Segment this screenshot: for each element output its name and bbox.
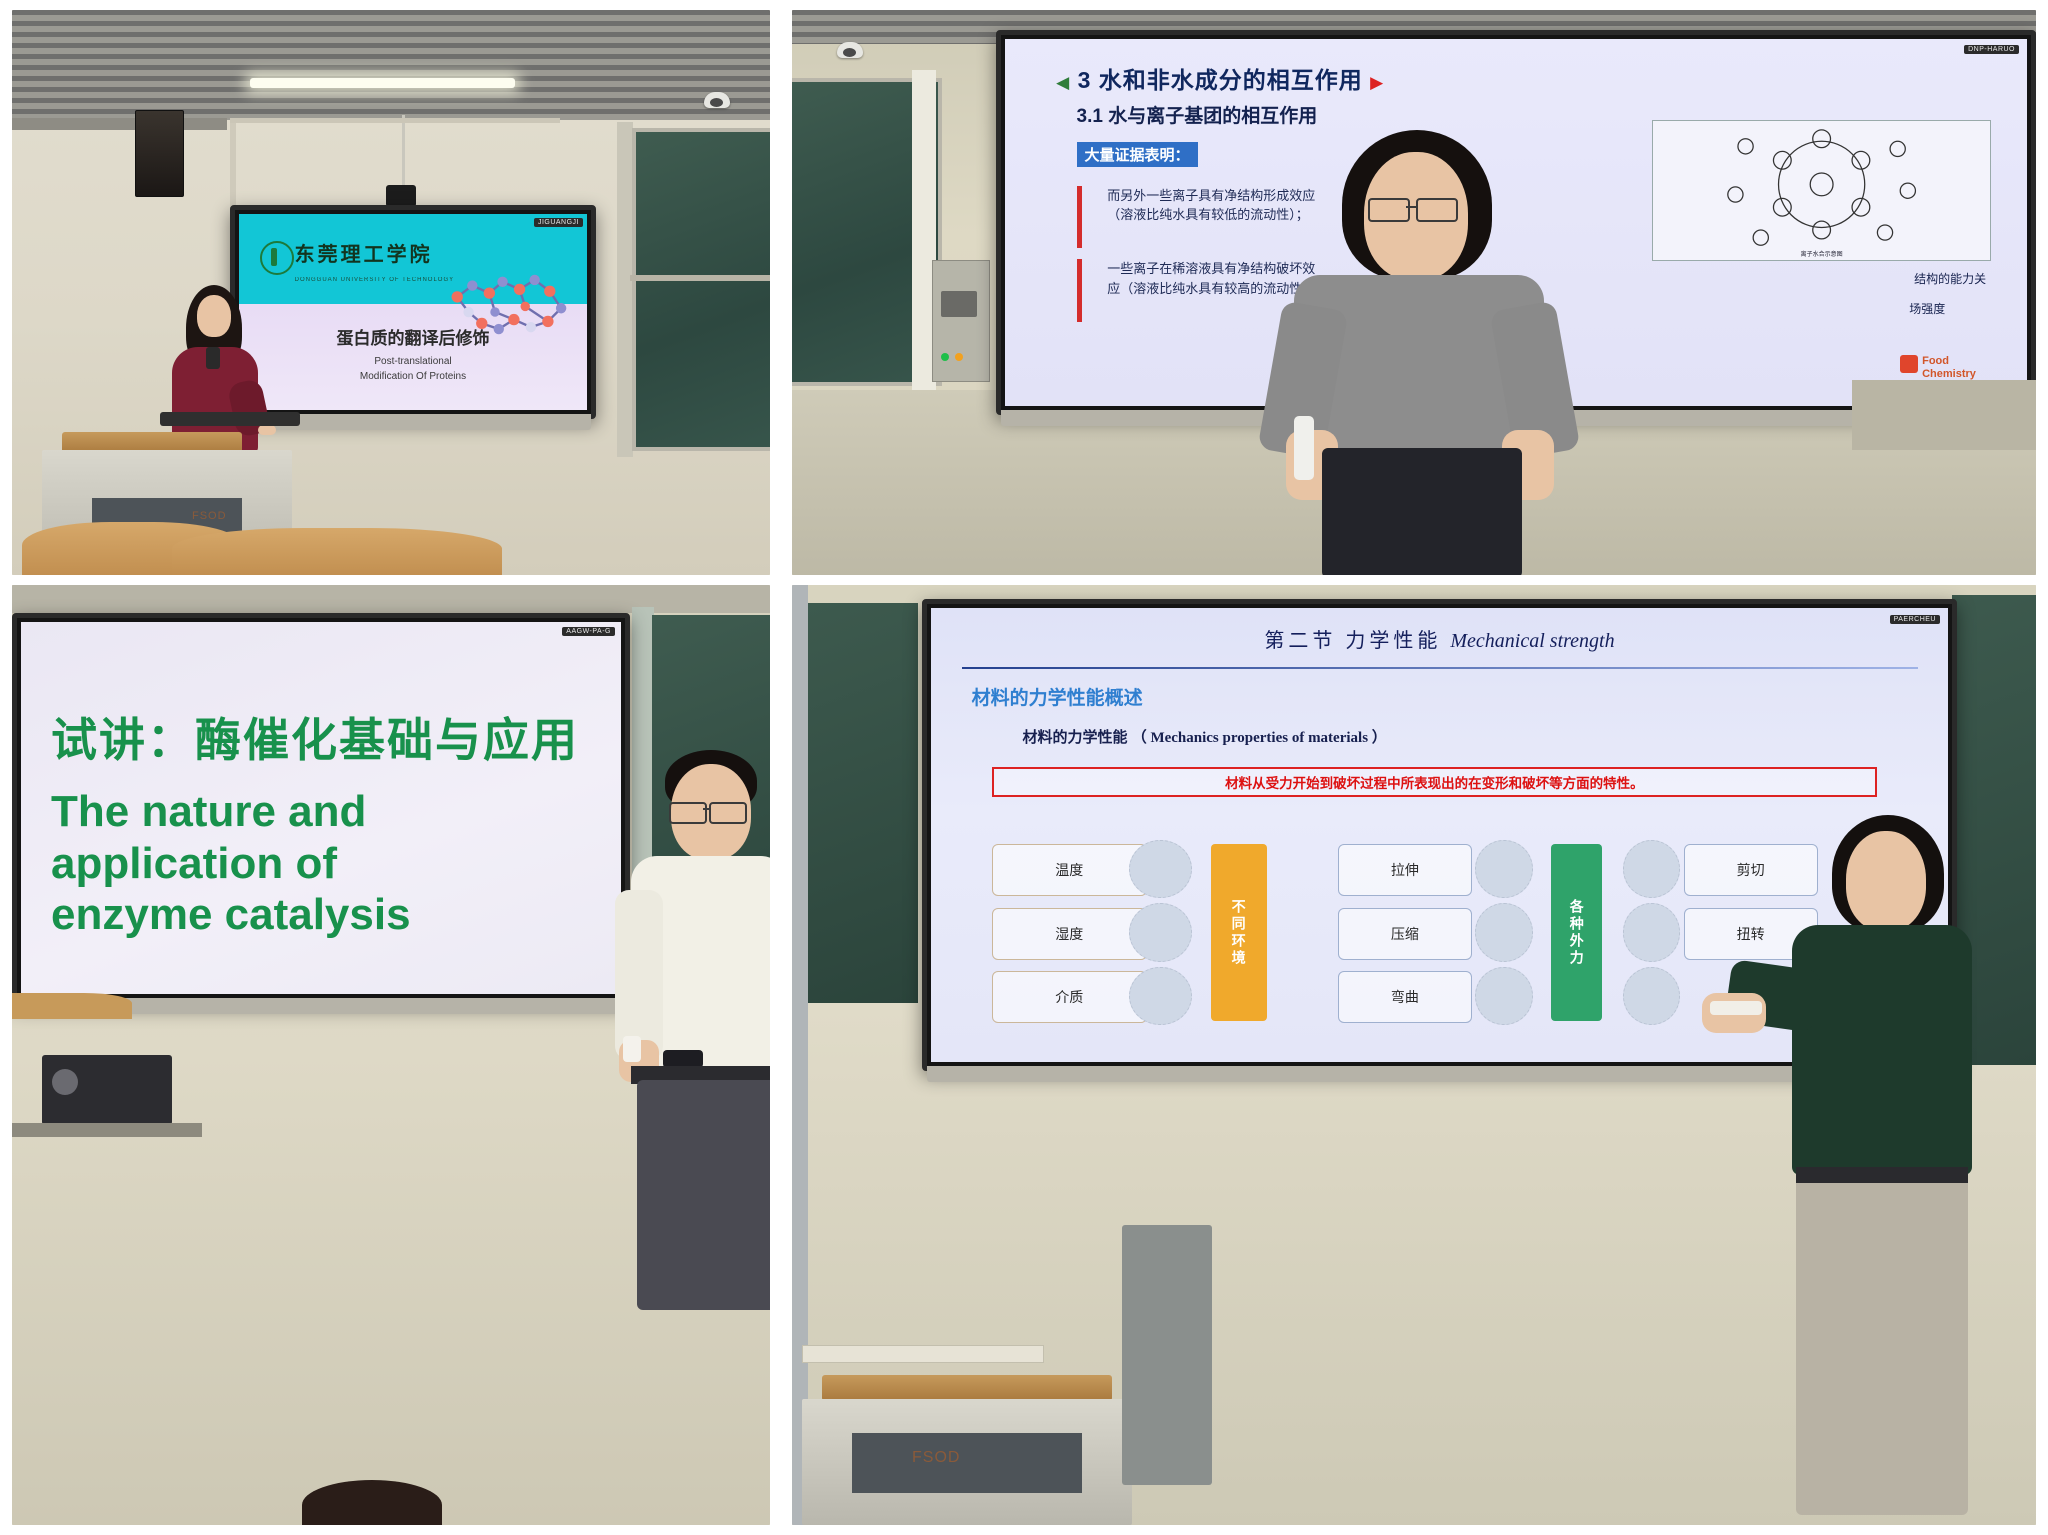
group-label-environment: 不同环境 <box>1211 844 1267 1021</box>
board-rail <box>617 122 633 457</box>
chip-bending: 弯曲 <box>1338 971 1472 1023</box>
board-divider <box>630 275 770 281</box>
bullet-bar-1 <box>1077 186 1082 248</box>
slide-note-line2: 场强度 <box>1909 300 1945 318</box>
diagram-caption: 离子水合示意图 <box>1657 249 1986 258</box>
icon-torsion <box>1623 903 1681 962</box>
lower-body <box>1322 448 1522 575</box>
icon-compression <box>1475 903 1533 962</box>
group-label-forces: 各种外力 <box>1551 844 1602 1021</box>
student-desk-2 <box>172 528 502 575</box>
panel-top-right: DNP-HARUO ◀ 3 水和非水成分的相互作用 ▶ 3.1 水与离子基团的相… <box>782 0 2048 585</box>
presenter-in-white-shirt <box>607 750 770 1310</box>
slide-corner-badge: DNP-HARUO <box>1964 45 2019 54</box>
photo-protein-lecture: 东莞理工学院 DONGGUAN UNIVERSITY OF TECHNOLOGY <box>12 10 770 575</box>
lectern-top <box>822 1375 1112 1401</box>
slide-subheading: 3.1 水与离子基团的相互作用 <box>1077 101 1318 128</box>
dome-camera-icon <box>837 42 863 58</box>
arm-left <box>615 890 663 1060</box>
presenter-in-dark-green <box>1722 815 2022 1515</box>
icon-bending <box>1475 967 1533 1026</box>
glasses-left-lens <box>669 802 707 824</box>
trousers <box>637 1080 770 1310</box>
glasses-bridge <box>703 808 711 810</box>
slide-subheading: 材料的力学性能 （ Mechanics properties of materi… <box>1023 726 1387 747</box>
display-screen[interactable]: 东莞理工学院 DONGGUAN UNIVERSITY OF TECHNOLOGY <box>230 205 596 419</box>
lectern-panel <box>852 1433 1082 1493</box>
ceiling-trim <box>12 585 770 613</box>
lectern: FSOD <box>802 1375 1132 1525</box>
panel-bottom-right: PAERCHEU 第二节 力学性能 Mechanical strength 材料… <box>782 585 2048 1535</box>
panel-bottom-left: AAGW-PA-G 试讲：酶催化基础与应用 The nature and app… <box>0 585 782 1535</box>
food-logo-line1: Food <box>1922 355 1976 368</box>
slide-subtitle-line1: Post-translational <box>239 355 587 370</box>
speaker-icon <box>135 110 184 197</box>
slide-title: 第二节 力学性能 Mechanical strength <box>931 624 1948 653</box>
icon-shear <box>1623 840 1681 899</box>
slide-title-en-line2: enzyme catalysis <box>51 889 585 941</box>
equipment-display <box>941 291 977 317</box>
belt <box>1796 1167 1968 1183</box>
wall-edge <box>230 122 236 217</box>
slide-title-en: Mechanical strength <box>1450 630 1614 652</box>
slide-title-en-line1: The nature and application of <box>51 786 585 890</box>
photo-mechanical-strength-lecture: PAERCHEU 第二节 力学性能 Mechanical strength 材料… <box>792 585 2036 1525</box>
slide-heading-text: 3 水和非水成分的相互作用 <box>1078 67 1363 93</box>
status-led-green <box>941 353 949 361</box>
keyboard <box>160 412 300 426</box>
ion-hydration-diagram: 离子水合示意图 <box>1652 120 1991 261</box>
slide-canvas: AAGW-PA-G 试讲：酶催化基础与应用 The nature and app… <box>21 622 621 994</box>
trousers <box>1796 1167 1968 1515</box>
food-chemistry-logo: Food Chemistry <box>1922 355 1976 380</box>
icon-humidity <box>1129 903 1192 962</box>
photo-food-chemistry-lecture: DNP-HARUO ◀ 3 水和非水成分的相互作用 ▶ 3.1 水与离子基团的相… <box>792 10 2036 575</box>
chip-humidity: 湿度 <box>992 908 1147 960</box>
audience-head <box>302 1480 442 1525</box>
icon-extra <box>1623 967 1681 1026</box>
photo-collage: 东莞理工学院 DONGGUAN UNIVERSITY OF TECHNOLOGY <box>0 0 2048 1535</box>
blackboard <box>632 128 770 451</box>
slide-title-cn: 试讲：酶催化基础与应用 <box>51 704 579 770</box>
slide-title-cn: 蛋白质的翻译后修饰 <box>239 324 587 349</box>
ceiling-beam <box>12 118 227 130</box>
pointer-device <box>1710 1001 1762 1015</box>
glasses-left-lens <box>1368 198 1410 222</box>
slide-definition-box: 材料从受力开始到破坏过程中所表现出的在变形和破坏等方面的特性。 <box>992 767 1877 797</box>
icon-medium <box>1129 967 1192 1026</box>
slide-highlight: 大量证据表明： <box>1077 142 1198 167</box>
glasses-right-lens <box>709 802 747 824</box>
icon-temperature <box>1129 840 1192 899</box>
chip-compression: 压缩 <box>1338 908 1472 960</box>
status-led-amber <box>955 353 963 361</box>
food-logo-line2: Chemistry <box>1922 368 1976 381</box>
collar <box>206 347 220 369</box>
slide-note-line1: 结构的能力关 <box>1914 270 1986 288</box>
wall-trim <box>230 118 560 123</box>
slide-subtitle-en: Post-translational Modification Of Prote… <box>239 355 587 384</box>
slide-enzyme: AAGW-PA-G 试讲：酶催化基础与应用 The nature and app… <box>21 622 621 994</box>
panel-top-left: 东莞理工学院 DONGGUAN UNIVERSITY OF TECHNOLOGY <box>0 0 782 585</box>
university-name-cn: 东莞理工学院 <box>295 238 433 267</box>
slide-subheading-en: （ Mechanics properties of materials ） <box>1132 730 1387 746</box>
av-equipment <box>42 1055 172 1125</box>
head <box>1846 831 1926 931</box>
food-logo-icon <box>1900 355 1918 373</box>
dome-camera-icon <box>704 92 730 108</box>
slide-subtitle-line2: Modification Of Proteins <box>239 370 587 385</box>
university-name-en: DONGGUAN UNIVERSITY OF TECHNOLOGY <box>295 277 454 283</box>
slide-corner-badge: PAERCHEU <box>1890 615 1940 624</box>
chip-tension: 拉伸 <box>1338 844 1472 896</box>
chip-temperature: 温度 <box>992 844 1147 896</box>
bullet-bar-2 <box>1077 259 1082 321</box>
head <box>197 295 231 337</box>
glasses-bridge <box>1406 206 1416 208</box>
paper-stack <box>802 1345 1044 1363</box>
lectern-brand: FSOD <box>912 1449 960 1467</box>
slide-protein: 东莞理工学院 DONGGUAN UNIVERSITY OF TECHNOLOGY <box>239 214 587 410</box>
slide-title-cn: 第二节 力学性能 <box>1264 630 1441 652</box>
equipment-dial <box>52 1069 78 1095</box>
ceiling-panels <box>12 10 770 120</box>
microphone-head-icon <box>386 185 416 207</box>
presenter-in-grey <box>1252 130 1602 575</box>
blackboard-left <box>808 603 918 1003</box>
equipment-cabinet <box>932 260 990 382</box>
lectern-brand: FSOD <box>192 510 227 522</box>
cable-tray <box>12 1123 202 1137</box>
pointer-device <box>623 1036 641 1062</box>
ceiling-light <box>250 78 515 88</box>
slide-corner-badge: AAGW-PA-G <box>562 627 615 636</box>
equipment-cabinet <box>1122 1225 1212 1485</box>
chip-medium: 介质 <box>992 971 1147 1023</box>
display-screen[interactable]: AAGW-PA-G 试讲：酶催化基础与应用 The nature and app… <box>12 613 630 1003</box>
slide-canvas: 东莞理工学院 DONGGUAN UNIVERSITY OF TECHNOLOGY <box>239 214 587 410</box>
side-rail <box>12 993 132 1019</box>
slide-subheading-cn: 材料的力学性能 <box>1023 729 1128 746</box>
pointer-device <box>1294 416 1314 480</box>
slide-corner-badge: JIGUANGJI <box>534 218 583 227</box>
glasses-right-lens <box>1416 198 1458 222</box>
icon-tension <box>1475 840 1533 899</box>
side-counter <box>1852 380 2036 450</box>
title-divider <box>962 667 1918 669</box>
left-arrow-icon: ◀ <box>1056 73 1070 92</box>
slide-heading: 材料的力学性能概述 <box>972 683 1143 710</box>
right-arrow-icon: ▶ <box>1370 73 1384 92</box>
microphone-icon <box>402 115 405 190</box>
slide-title-en: The nature and application of enzyme cat… <box>51 786 585 942</box>
photo-enzyme-lecture: AAGW-PA-G 试讲：酶催化基础与应用 The nature and app… <box>12 585 770 1525</box>
slide-heading: ◀ 3 水和非水成分的相互作用 ▶ <box>1056 61 1384 95</box>
torso <box>1792 925 1972 1175</box>
